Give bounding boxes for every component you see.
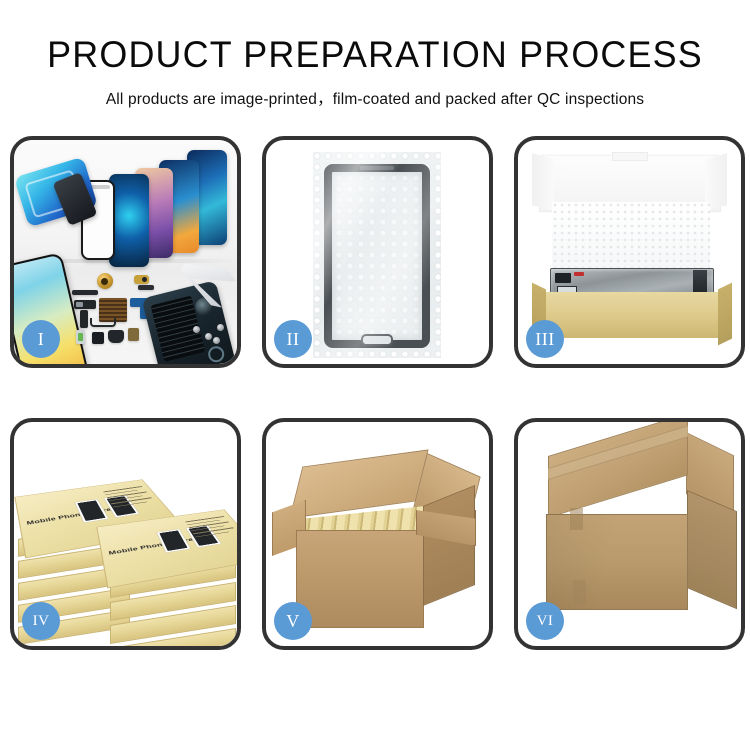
step-badge-1: I	[22, 320, 60, 358]
phone-display-4	[109, 174, 149, 267]
wrapped-screen-assembly	[324, 164, 430, 348]
process-step-1[interactable]: I	[10, 136, 241, 368]
step-badge-2: II	[274, 320, 312, 358]
part-loudspeaker	[92, 332, 104, 344]
packing-tape-front-lower	[573, 580, 586, 604]
part-speaker-bar	[72, 290, 98, 295]
step-badge-5: V	[274, 602, 312, 640]
box-lid-tab	[612, 152, 648, 161]
product-red-marker	[574, 272, 584, 276]
lens-ring	[206, 345, 225, 364]
part-metal-bracket	[90, 318, 116, 327]
packing-tape-front-upper	[570, 508, 583, 530]
sealed-carton-side	[687, 490, 737, 609]
part-flex-cable-1	[74, 300, 96, 309]
yellow-box-front	[538, 292, 726, 338]
process-step-6[interactable]: VI	[514, 418, 745, 650]
box-product-thumb	[156, 528, 191, 552]
foam-padding	[552, 202, 710, 270]
bubble-wrap-sheet	[313, 152, 441, 358]
carton-side-face	[423, 485, 475, 606]
step-badge-3: III	[526, 320, 564, 358]
step-badge-6: VI	[526, 602, 564, 640]
part-camera-bracket	[138, 285, 154, 290]
process-step-3[interactable]: III	[514, 136, 745, 368]
process-step-4[interactable]: Mobile Phone Spare Parts Mobile Phone Sp…	[10, 418, 241, 650]
screw-set	[193, 324, 227, 344]
step-badge-4: IV	[22, 602, 60, 640]
box-product-thumb	[74, 498, 109, 522]
page-subtitle: All products are image-printed，film-coat…	[0, 87, 750, 109]
page-header: PRODUCT PREPARATION PROCESS All products…	[0, 0, 750, 109]
part-ic-chip	[128, 328, 139, 341]
process-step-5[interactable]: V	[262, 418, 493, 650]
process-step-2[interactable]: II	[262, 136, 493, 368]
box-lid-flap-left	[532, 153, 554, 210]
process-step-grid: I II III	[10, 136, 741, 650]
carton-front-face	[296, 530, 424, 628]
part-motor-core	[101, 278, 108, 285]
part-earpiece	[108, 330, 124, 343]
page-title: PRODUCT PREPARATION PROCESS	[11, 36, 739, 75]
part-battery-cell	[76, 330, 85, 344]
part-camera-module	[134, 275, 149, 284]
carton-shading	[546, 514, 688, 610]
part-flex-cable-2	[80, 310, 88, 328]
